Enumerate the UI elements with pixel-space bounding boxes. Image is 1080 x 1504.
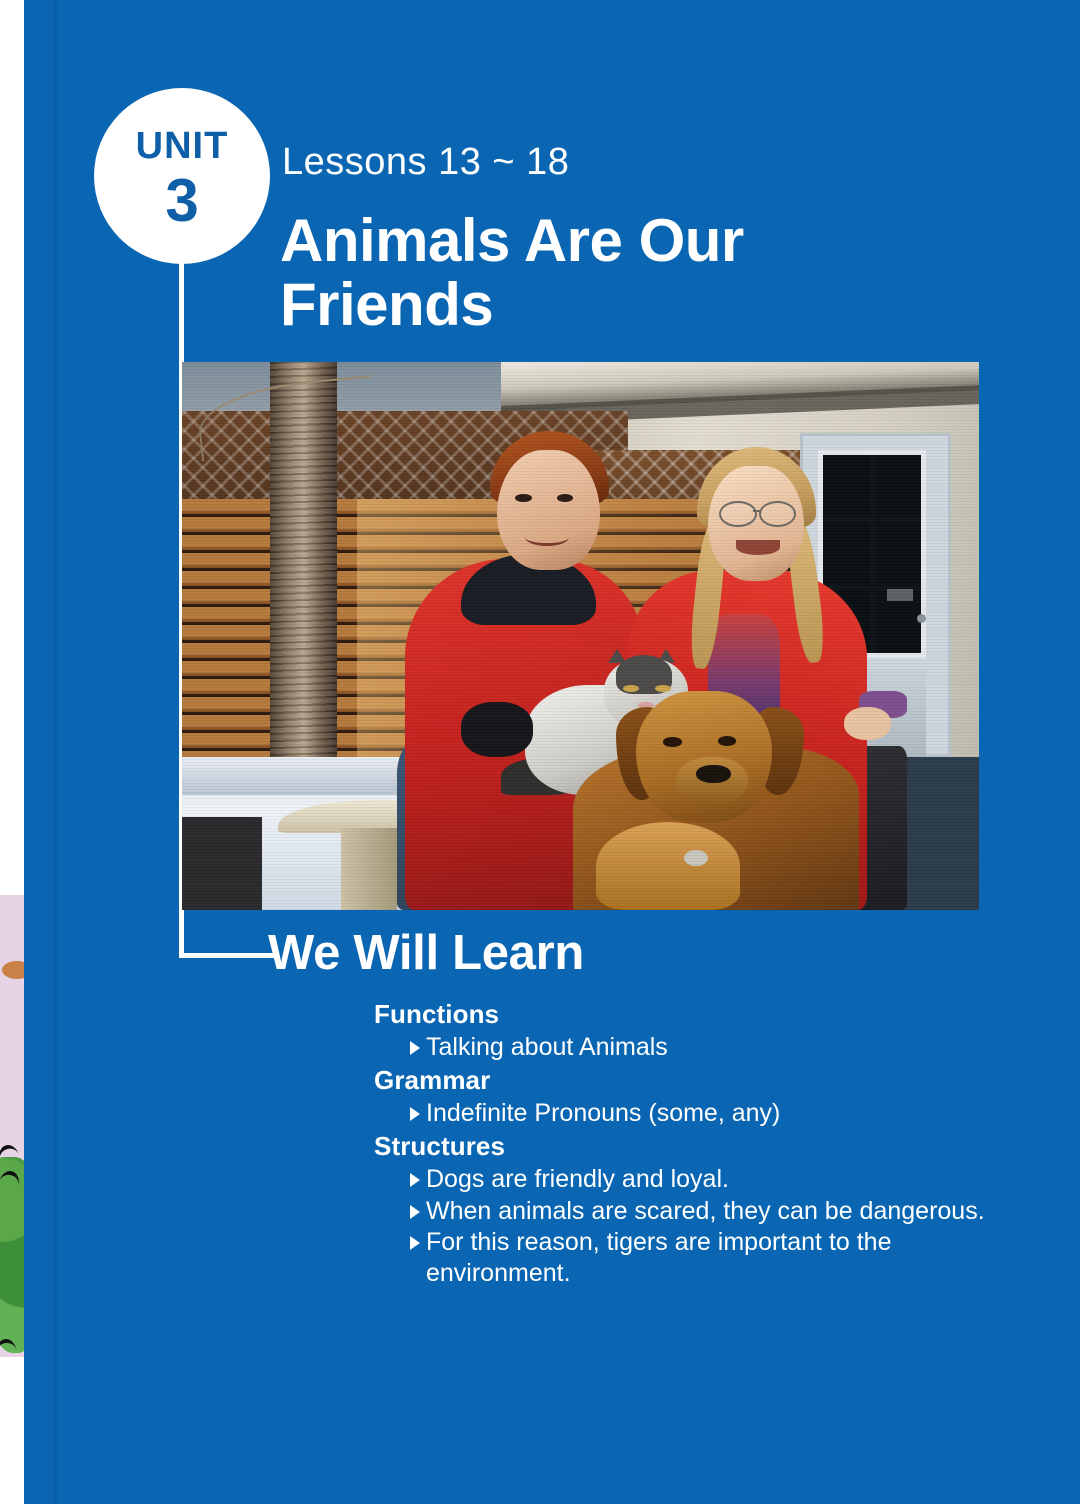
photo-boy-glove — [461, 702, 533, 757]
triangle-bullet-icon — [410, 1107, 420, 1121]
photo-dog-eye-left — [663, 737, 681, 746]
list-item-text: For this reason, tigers are important to… — [426, 1227, 994, 1288]
triangle-bullet-icon — [410, 1205, 420, 1219]
page-title-line-1: Animals Are Our — [280, 209, 980, 273]
photo-girl-hand — [844, 707, 892, 740]
triangle-bullet-icon — [410, 1173, 420, 1187]
photo-dog-nose — [696, 765, 731, 784]
photo-door-pane — [823, 455, 870, 518]
photo-dark-object — [182, 817, 262, 910]
list-item-text: Indefinite Pronouns (some, any) — [426, 1098, 994, 1129]
list-item: For this reason, tigers are important to… — [410, 1227, 994, 1288]
photo-dog-collar-tag — [684, 850, 708, 866]
unit-badge-label: UNIT — [136, 127, 229, 165]
list-item: When animals are scared, they can be dan… — [410, 1196, 994, 1227]
list-item: Talking about Animals — [410, 1032, 994, 1063]
illustration-accent — [2, 961, 26, 979]
list-item: Dogs are friendly and loyal. — [410, 1164, 994, 1195]
we-will-learn-heading: We Will Learn — [268, 925, 584, 981]
facing-page-edge-strip — [0, 895, 26, 1357]
learn-category-functions: Functions — [374, 999, 994, 1031]
photo-bench-leg — [341, 828, 397, 910]
photo-door-pane — [875, 455, 922, 518]
page-title-line-2: Friends — [280, 273, 980, 337]
connector-horizontal-line — [179, 953, 274, 958]
list-item-text: Talking about Animals — [426, 1032, 994, 1063]
we-will-learn-list: Functions Talking about Animals Grammar … — [374, 999, 994, 1288]
list-item: Indefinite Pronouns (some, any) — [410, 1098, 994, 1129]
list-item-text: When animals are scared, they can be dan… — [426, 1196, 994, 1227]
photo-door-knob — [917, 614, 926, 623]
unit-badge-number: 3 — [165, 171, 198, 231]
photo-boy-face — [497, 450, 601, 571]
photo-boy-eye-right — [557, 494, 574, 502]
page-seam-line — [54, 0, 57, 1504]
photo-boy-eye-left — [515, 494, 532, 502]
learn-category-grammar: Grammar — [374, 1065, 994, 1097]
learn-category-structures: Structures — [374, 1131, 994, 1163]
photo-dog-chest-fur — [596, 822, 739, 910]
triangle-bullet-icon — [410, 1041, 420, 1055]
photo-girl-glasses-left-lens — [719, 501, 756, 527]
photo-girl-glasses-bridge — [753, 510, 761, 512]
page-title: Animals Are Our Friends — [280, 209, 980, 336]
list-item-text: Dogs are friendly and loyal. — [426, 1164, 994, 1195]
photo-door-sign — [887, 589, 913, 601]
unit-badge: UNIT 3 — [94, 88, 270, 264]
unit-photo — [182, 362, 979, 910]
photo-dog-eye-right — [718, 736, 736, 745]
lessons-range: Lessons 13 ~ 18 — [282, 141, 569, 184]
triangle-bullet-icon — [410, 1236, 420, 1250]
textbook-unit-page: UNIT 3 Lessons 13 ~ 18 Animals Are Our F… — [0, 0, 1080, 1504]
photo-door-pane — [875, 522, 922, 585]
photo-door-pane — [823, 522, 870, 585]
